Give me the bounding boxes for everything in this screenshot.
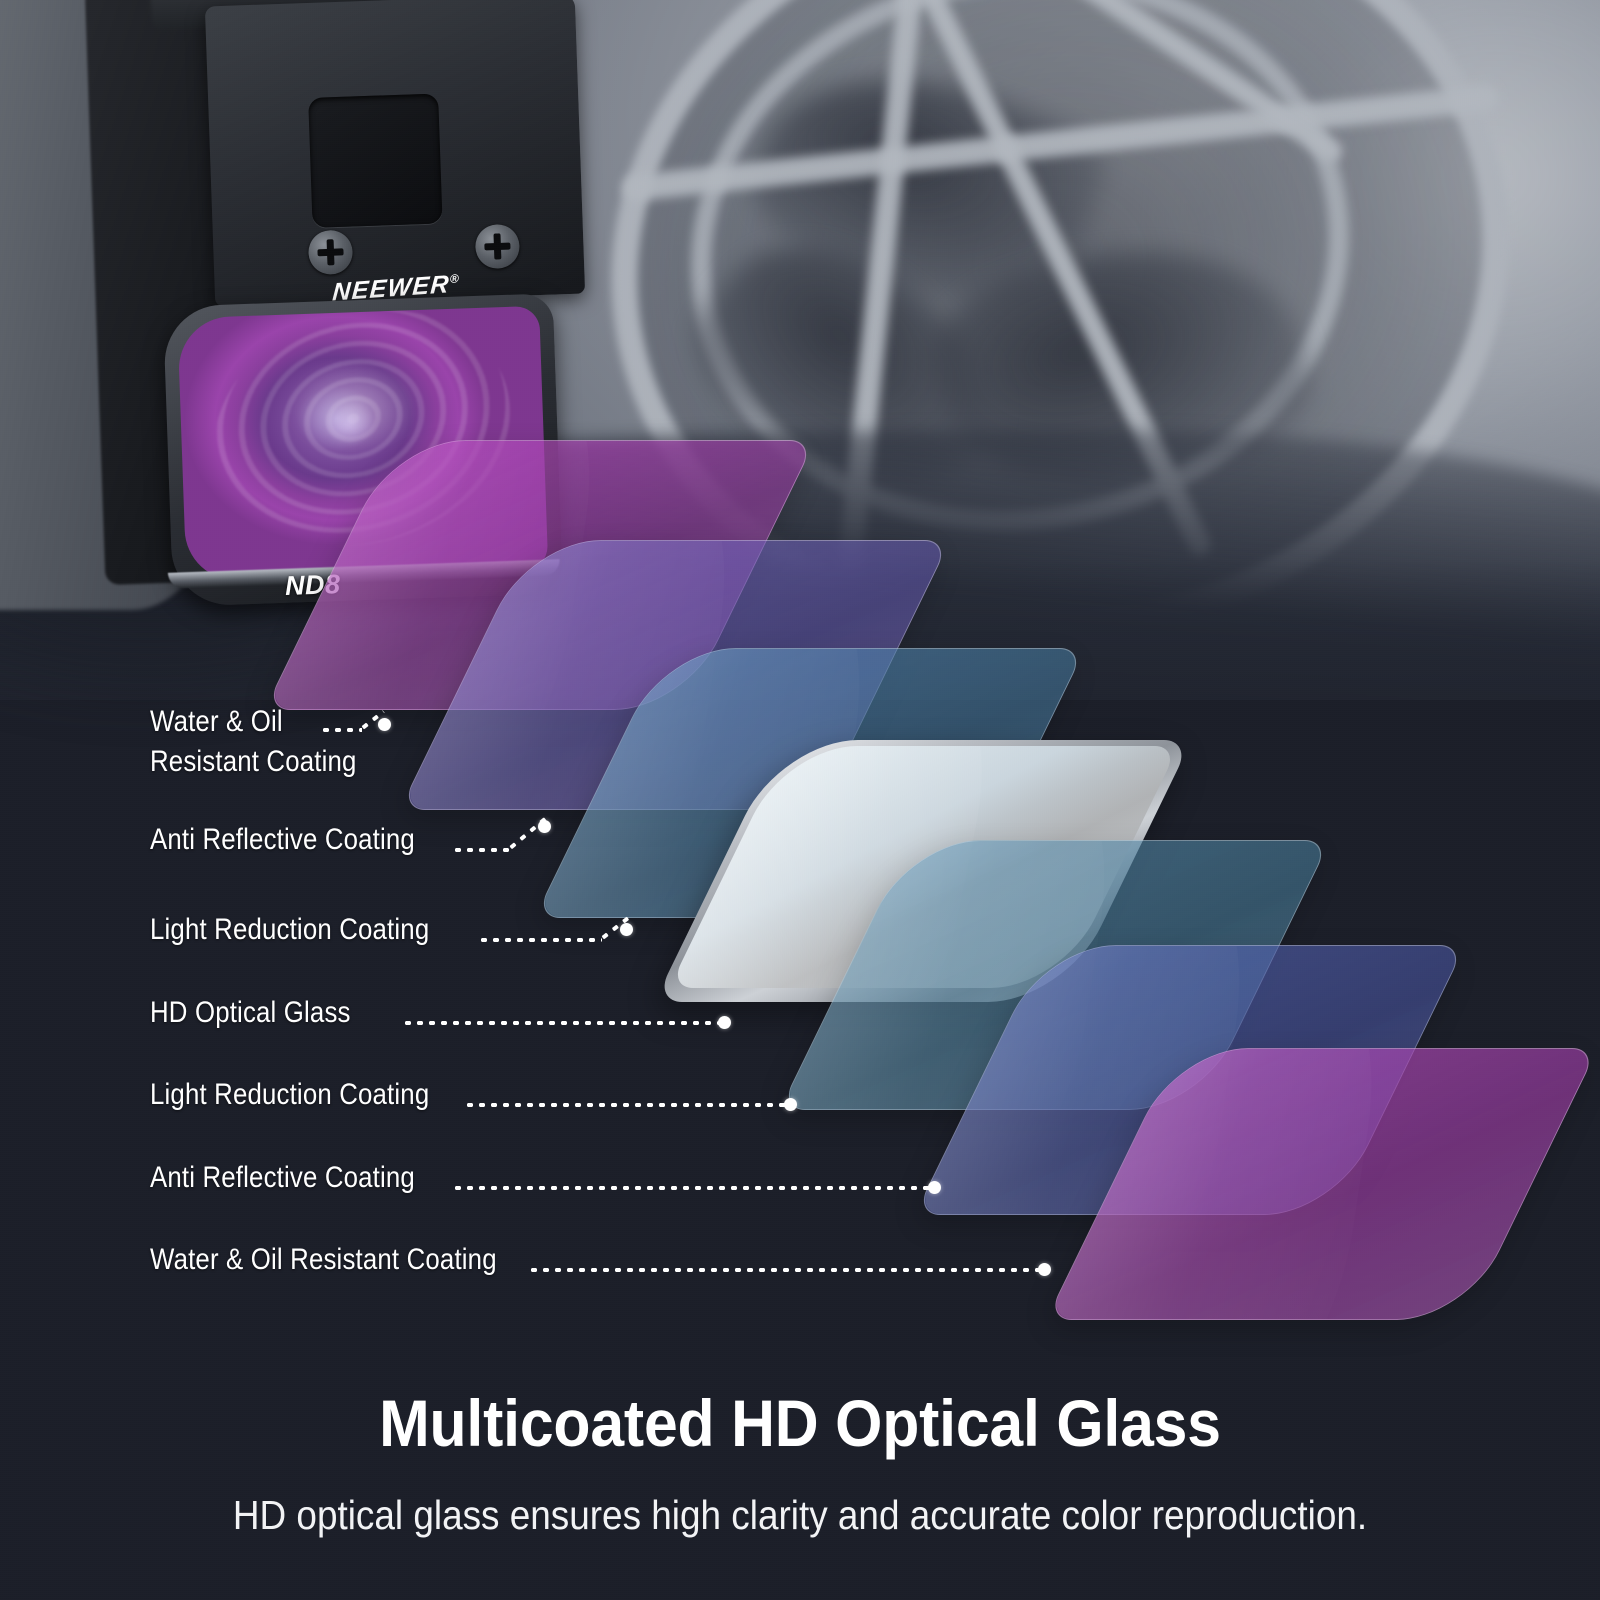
layer-label-hd-optical-glass: HD Optical Glass — [150, 996, 351, 1030]
layer-label-light-reduction-bottom: Light Reduction Coating — [150, 1078, 429, 1112]
leader-dots — [402, 1021, 724, 1025]
phillips-screw-icon — [475, 224, 521, 270]
headline: Multicoated HD Optical Glass — [64, 1385, 1536, 1461]
leader-line-light-reduction-top — [478, 932, 658, 934]
leader-dots — [464, 1103, 790, 1107]
leader-endpoint-dot — [718, 1016, 731, 1029]
subheadline: HD optical glass ensures high clarity an… — [80, 1492, 1520, 1539]
leader-endpoint-dot — [378, 718, 391, 731]
layer-label-anti-reflective-top: Anti Reflective Coating — [150, 823, 415, 857]
registered-trademark-icon: ® — [450, 271, 461, 286]
leader-line-water-oil-bottom — [528, 1262, 1062, 1264]
leader-endpoint-dot — [620, 923, 633, 936]
leader-endpoint-dot — [784, 1098, 797, 1111]
leader-line-anti-reflective-top — [452, 842, 562, 844]
leader-endpoint-dot — [538, 820, 551, 833]
leader-dots — [478, 938, 602, 942]
layer-label-anti-reflective-bottom: Anti Reflective Coating — [150, 1161, 415, 1195]
layer-label-water-oil-top: Water & Oil Resistant Coating — [150, 702, 357, 781]
phillips-screw-icon — [308, 230, 354, 276]
leader-dots — [452, 1186, 934, 1190]
leader-dots — [528, 1268, 1044, 1272]
filter-mount-bracket: NEEWER® — [205, 0, 585, 306]
leader-line-water-oil-top — [320, 722, 395, 724]
leader-dots — [452, 848, 510, 852]
leader-line-anti-reflective-bottom — [452, 1180, 952, 1182]
leader-line-hd-optical-glass — [402, 1015, 742, 1017]
layer-label-water-oil-bottom: Water & Oil Resistant Coating — [150, 1243, 497, 1277]
layer-label-light-reduction-top: Light Reduction Coating — [150, 913, 429, 947]
leader-endpoint-dot — [928, 1181, 941, 1194]
layer-label-line2: Resistant Coating — [150, 742, 357, 782]
product-infographic: NEEWER® ND8 Water & Oil Resistant Coatin… — [0, 0, 1600, 1600]
bracket-window — [308, 93, 442, 227]
leader-line-light-reduction-bottom — [464, 1097, 812, 1099]
leader-endpoint-dot — [1038, 1263, 1051, 1276]
leader-dots — [320, 728, 362, 732]
